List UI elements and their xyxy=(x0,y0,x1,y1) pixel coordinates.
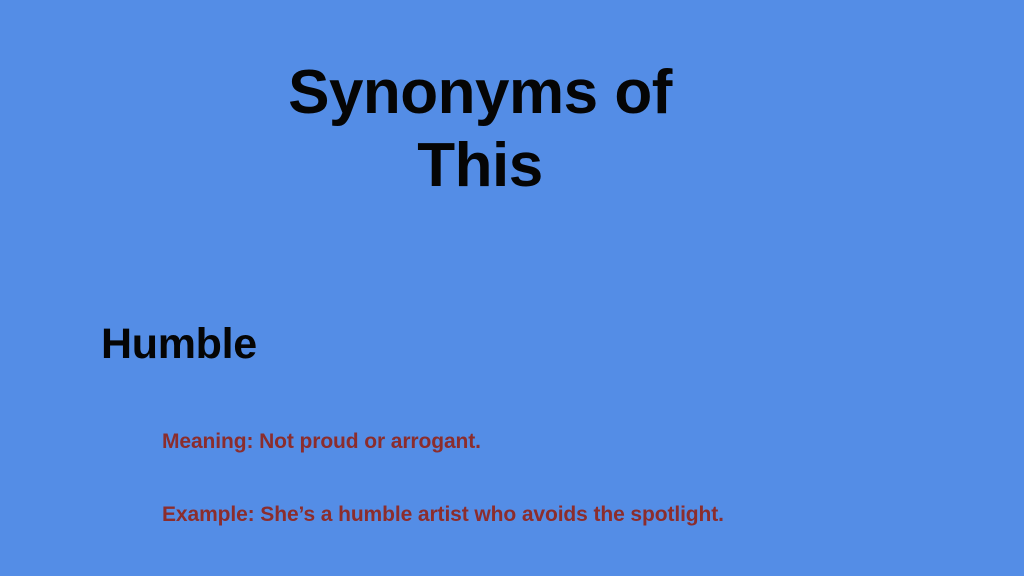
title-line-1: Synonyms of xyxy=(0,56,960,129)
slide-title: Synonyms of This xyxy=(0,56,960,202)
title-line-2: This xyxy=(0,129,960,202)
synonym-word: Humble xyxy=(101,318,1024,370)
synonym-example: Example: She’s a humble artist who avoid… xyxy=(162,502,1024,528)
synonym-meaning: Meaning: Not proud or arrogant. xyxy=(162,429,1024,455)
slide-canvas: Synonyms of This Humble Meaning: Not pro… xyxy=(0,0,1024,576)
synonym-entry: Humble Meaning: Not proud or arrogant. E… xyxy=(0,318,1024,528)
